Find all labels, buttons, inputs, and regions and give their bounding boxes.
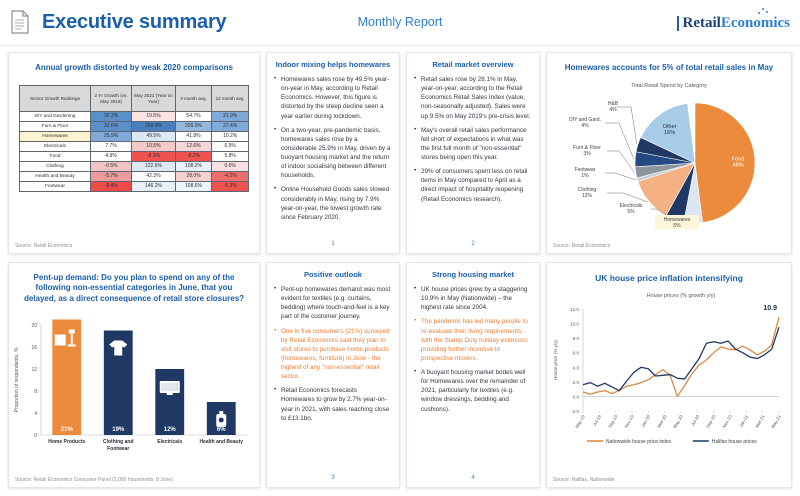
line-chart-subtitle: House prices (% growth y/y) <box>647 293 716 299</box>
col-2yr: 2 Yr Growth (vs. May 2019) <box>90 86 131 112</box>
pie-chart-subtitle: Total Retail Spend by Category <box>547 83 791 89</box>
bar-value-label: 21% <box>61 427 74 433</box>
legend-label: Halifax house prices <box>712 439 758 445</box>
bar-value-label: 19% <box>112 427 125 433</box>
line-y-tick: -2.0 <box>571 409 579 414</box>
bar-value-label: 12% <box>164 427 177 433</box>
table-cell: 0.6% <box>212 162 249 172</box>
text3-heading: Positive outlook <box>274 270 392 279</box>
table-cell: 12.6% <box>175 142 212 152</box>
table-cell: Health and Beauty <box>20 172 91 182</box>
table-cell: 5.8% <box>212 152 249 162</box>
bar-y-tick: 12 <box>31 367 37 373</box>
text1-page-number: 1 <box>267 241 399 247</box>
table-cell: 146.2% <box>132 182 176 192</box>
table-cell: Food <box>20 152 91 162</box>
panel-retail-market-overview: Retail market overview Retail sales rose… <box>406 52 540 254</box>
bullet-item: May's overall retail sales performance f… <box>414 126 532 163</box>
table-row: Homewares25.9%49.5%41.8%10.2% <box>20 132 249 142</box>
line-x-tick: Mar-21 <box>754 414 766 429</box>
table-cell: 4.9% <box>90 152 131 162</box>
pie-chart-area: Food48%Other16%H&B4%DIY and Gard.4%Furn … <box>547 91 793 231</box>
pie-outer-label: Footwear1% <box>575 167 596 179</box>
table-cell: 41.8% <box>175 132 212 142</box>
table-cell: 6.5% <box>212 142 249 152</box>
bar-svg: 048121620Proportion of respondents, %21%… <box>9 319 261 469</box>
bullet-item: The pandemic has led many people to re-e… <box>414 317 532 363</box>
line-y-tick: 2.0 <box>573 380 580 385</box>
table-cell: Homewares <box>20 132 91 142</box>
line-y-axis-title: House price (% y/y) <box>553 339 558 380</box>
col-3m: 3 month avg. <box>175 86 212 112</box>
line-x-tick: Sep-19 <box>607 414 619 429</box>
table-row: DIY and Gardening32.2%19.5%54.7%21.9% <box>20 112 249 122</box>
text2-bullets: Retail sales rose by 28.1% in May, year-… <box>414 75 532 204</box>
bullet-item: Retail Economics forecasts Homewares to … <box>274 386 392 423</box>
col-sector: Sector Growth Rankings <box>20 86 91 112</box>
text2-heading: Retail market overview <box>414 60 532 69</box>
logo-retail: Retail <box>683 15 721 31</box>
line-series <box>583 327 779 390</box>
bar-category-label: Electricals <box>157 439 182 445</box>
bar-panel-title: Pent-up demand: Do you plan to spend on … <box>23 273 245 304</box>
table-row: Clothing-0.5%122.6%108.2%0.6% <box>20 162 249 172</box>
table-cell: Furn & Floor <box>20 122 91 132</box>
monitor-icon <box>160 381 180 395</box>
growth-table-body: DIY and Gardening32.2%19.5%54.7%21.9%Fur… <box>20 112 249 192</box>
line-x-tick: Jan-21 <box>738 414 749 429</box>
table-cell: 19.5% <box>132 112 176 122</box>
bullet-item: Online Household Goods sales slowed cons… <box>274 185 392 222</box>
pie-source: Source: Retail Economics <box>553 243 610 249</box>
pie-leader-line <box>615 107 637 144</box>
pie-outer-label: DIY and Gard.4% <box>569 117 601 129</box>
retail-economics-logo: RetailEconomics <box>677 8 791 31</box>
text4-heading: Strong housing market <box>414 270 532 279</box>
line-x-tick: May-21 <box>770 414 782 430</box>
bar-source: Source: Retail Economics Consumer Panel … <box>15 477 173 483</box>
text3-bullets: Pent-up homewares demand was most eviden… <box>274 285 392 423</box>
table-cell: Clothing <box>20 162 91 172</box>
table-cell: -8.1% <box>132 152 176 162</box>
logo-economics: Economics <box>721 15 790 31</box>
table-row: Food4.9%-8.1%-8.2%5.8% <box>20 152 249 162</box>
bullet-item: 29% of consumers spent less on retail it… <box>414 167 532 204</box>
pie-slice <box>695 103 755 223</box>
bullet-item: On a two-year, pre-pandemic basis, homew… <box>274 126 392 181</box>
bar-y-tick: 4 <box>34 411 37 417</box>
table-row: Health and Beauty-5.7%42.3%28.0%-4.2% <box>20 172 249 182</box>
line-x-tick: May-20 <box>672 414 684 430</box>
table-cell: 209.0% <box>175 122 212 132</box>
pie-leader-line <box>607 151 635 173</box>
panel-annual-growth-table: Annual growth distorted by weak 2020 com… <box>8 52 260 254</box>
text-card-2: Retail market overview Retail sales rose… <box>407 53 539 253</box>
logo-dots <box>677 8 791 16</box>
bar <box>155 369 184 435</box>
table-source: Source: Retail Economics <box>15 243 72 249</box>
table-cell: 49.5% <box>132 132 176 142</box>
text4-bullets: UK house prices grew by a staggering 10.… <box>414 285 532 414</box>
table-cell: 10.2% <box>212 132 249 142</box>
pie-leader-line <box>605 123 634 159</box>
text2-page-number: 2 <box>407 241 539 247</box>
panel-indoor-mixing: Indoor mixing helps homewares Homewares … <box>266 52 400 254</box>
line-chart-area: House prices (% growth y/y)-2.00.02.04.0… <box>547 287 793 467</box>
panel-line-chart: UK house price inflation intensifying Ho… <box>546 262 792 488</box>
bar-category-label: Health and Beauty <box>199 439 243 445</box>
table-cell: 10.5% <box>132 142 176 152</box>
table-cell: -4.2% <box>212 172 249 182</box>
bullet-item: UK house prices grew by a staggering 10.… <box>414 285 532 312</box>
bullet-item: Pent-up homewares demand was most eviden… <box>274 285 392 322</box>
bullet-item: A buoyant housing market bodes well for … <box>414 368 532 414</box>
line-source: Source: Halifax, Nationwide <box>553 477 614 483</box>
table-cell: Footwear <box>20 182 91 192</box>
bar-category-label: Home Products <box>48 439 85 445</box>
table-cell: 54.7% <box>175 112 212 122</box>
bullet-item: One in five consumers (21%) surveyed by … <box>274 327 392 382</box>
table-cell: 269.9% <box>132 122 176 132</box>
bar-value-label: 6% <box>217 427 226 433</box>
text-card-4: Strong housing market UK house prices gr… <box>407 263 539 487</box>
table-header-row: Sector Growth Rankings 2 Yr Growth (vs. … <box>20 86 249 112</box>
pie-svg: Food48%Other16%H&B4%DIY and Gard.4%Furn … <box>547 91 793 236</box>
bar-y-tick: 20 <box>31 323 37 329</box>
line-x-tick: Nov-19 <box>623 414 635 429</box>
table-cell: DIY and Gardening <box>20 112 91 122</box>
table-cell: 25.9% <box>90 132 131 142</box>
panel-positive-outlook: Positive outlook Pent-up homewares deman… <box>266 262 400 488</box>
panel-pie-chart: Homewares accounts for 5% of total retai… <box>546 52 792 254</box>
table-cell: -9.4% <box>90 182 131 192</box>
pie-leader-line <box>607 193 648 202</box>
logo-text: RetailEconomics <box>677 16 791 31</box>
bar-chart-area: 048121620Proportion of respondents, %21%… <box>9 319 261 469</box>
line-x-tick: Nov-20 <box>721 414 733 429</box>
pie-inner-label: Food48% <box>732 156 745 168</box>
line-panel-title: UK house price inflation intensifying <box>547 273 791 284</box>
table-cell: 32.2% <box>90 112 131 122</box>
text1-bullets: Homewares sales rose by 49.5% year-on-ye… <box>274 75 392 222</box>
text-card-1: Indoor mixing helps homewares Homewares … <box>267 53 399 253</box>
line-x-tick: Jul-20 <box>690 414 701 427</box>
table-cell: 108.2% <box>175 162 212 172</box>
line-x-tick: Jan-20 <box>640 414 651 429</box>
bar-y-tick: 8 <box>34 389 37 395</box>
table-cell: 32.6% <box>90 122 131 132</box>
pie-leader-line <box>605 173 636 180</box>
pie-outer-label: Electricals5% <box>620 203 643 215</box>
table-cell: 122.6% <box>132 162 176 172</box>
bar-y-tick: 16 <box>31 345 37 351</box>
table-cell: -0.5% <box>90 162 131 172</box>
line-y-tick: 6.0 <box>573 351 580 356</box>
legend-label: Nationwide house price index <box>606 439 672 445</box>
header-divider <box>0 44 800 47</box>
text-card-3: Positive outlook Pent-up homewares deman… <box>267 263 399 487</box>
line-y-tick: 0.0 <box>573 394 580 399</box>
table-cell: Electricals <box>20 142 91 152</box>
line-y-tick: 8.0 <box>573 336 580 341</box>
table-cell: 28.0% <box>175 172 212 182</box>
text4-page-number: 4 <box>407 475 539 481</box>
bar-category-label: Clothing andFootwear <box>103 439 134 452</box>
line-svg: House prices (% growth y/y)-2.00.02.04.0… <box>547 287 793 467</box>
table-cell: -5.7% <box>90 172 131 182</box>
line-x-tick: Mar-20 <box>656 414 668 429</box>
table-cell: -5.3% <box>212 182 249 192</box>
text3-page-number: 3 <box>267 475 399 481</box>
line-y-tick: 4.0 <box>573 365 580 370</box>
text1-heading: Indoor mixing helps homewares <box>274 60 392 69</box>
line-x-tick: May-19 <box>574 414 586 430</box>
growth-table-wrapper: Sector Growth Rankings 2 Yr Growth (vs. … <box>19 85 249 192</box>
col-may2021: May 2021 (Year on Year) <box>132 86 176 112</box>
panel-bar-chart: Pent-up demand: Do you plan to spend on … <box>8 262 260 488</box>
col-12m: 12 month avg. <box>212 86 249 112</box>
pie-outer-label: Clothing12% <box>578 187 597 199</box>
slide-page: Executive summary Monthly Report RetailE… <box>0 0 800 496</box>
line-x-tick: Sep-20 <box>705 414 717 429</box>
bullet-item: Homewares sales rose by 49.5% year-on-ye… <box>274 75 392 121</box>
pie-panel-title: Homewares accounts for 5% of total retai… <box>547 63 791 73</box>
panel-strong-housing-market: Strong housing market UK house prices gr… <box>406 262 540 488</box>
table-row: Footwear-9.4%146.2%108.6%-5.3% <box>20 182 249 192</box>
line-y-tick: 12.0 <box>570 307 579 312</box>
pie-outer-label: Furn & Floor3% <box>573 145 601 157</box>
bullet-item: Retail sales rose by 28.1% in May, year-… <box>414 75 532 121</box>
growth-table: Sector Growth Rankings 2 Yr Growth (vs. … <box>19 85 249 192</box>
table-cell: 108.6% <box>175 182 212 192</box>
table-row: Furn & Floor32.6%269.9%209.0%27.4% <box>20 122 249 132</box>
line-y-tick: 10.0 <box>570 322 579 327</box>
table-cell: 27.4% <box>212 122 249 132</box>
table-cell: 21.9% <box>212 112 249 122</box>
table-cell: 42.3% <box>132 172 176 182</box>
bar-y-axis-title: Proportion of respondents, % <box>14 347 20 412</box>
page-header: Executive summary Monthly Report RetailE… <box>0 0 800 44</box>
line-annotation: 10.9 <box>763 305 777 312</box>
bar-y-tick: 0 <box>34 433 37 439</box>
table-cell: 7.7% <box>90 142 131 152</box>
table-cell: -8.2% <box>175 152 212 162</box>
line-x-tick: Jul-19 <box>592 414 603 427</box>
pie-inner-label: Other16% <box>663 124 677 136</box>
table-panel-title: Annual growth distorted by weak 2020 com… <box>9 63 259 73</box>
table-row: Electricals7.7%10.5%12.6%6.5% <box>20 142 249 152</box>
